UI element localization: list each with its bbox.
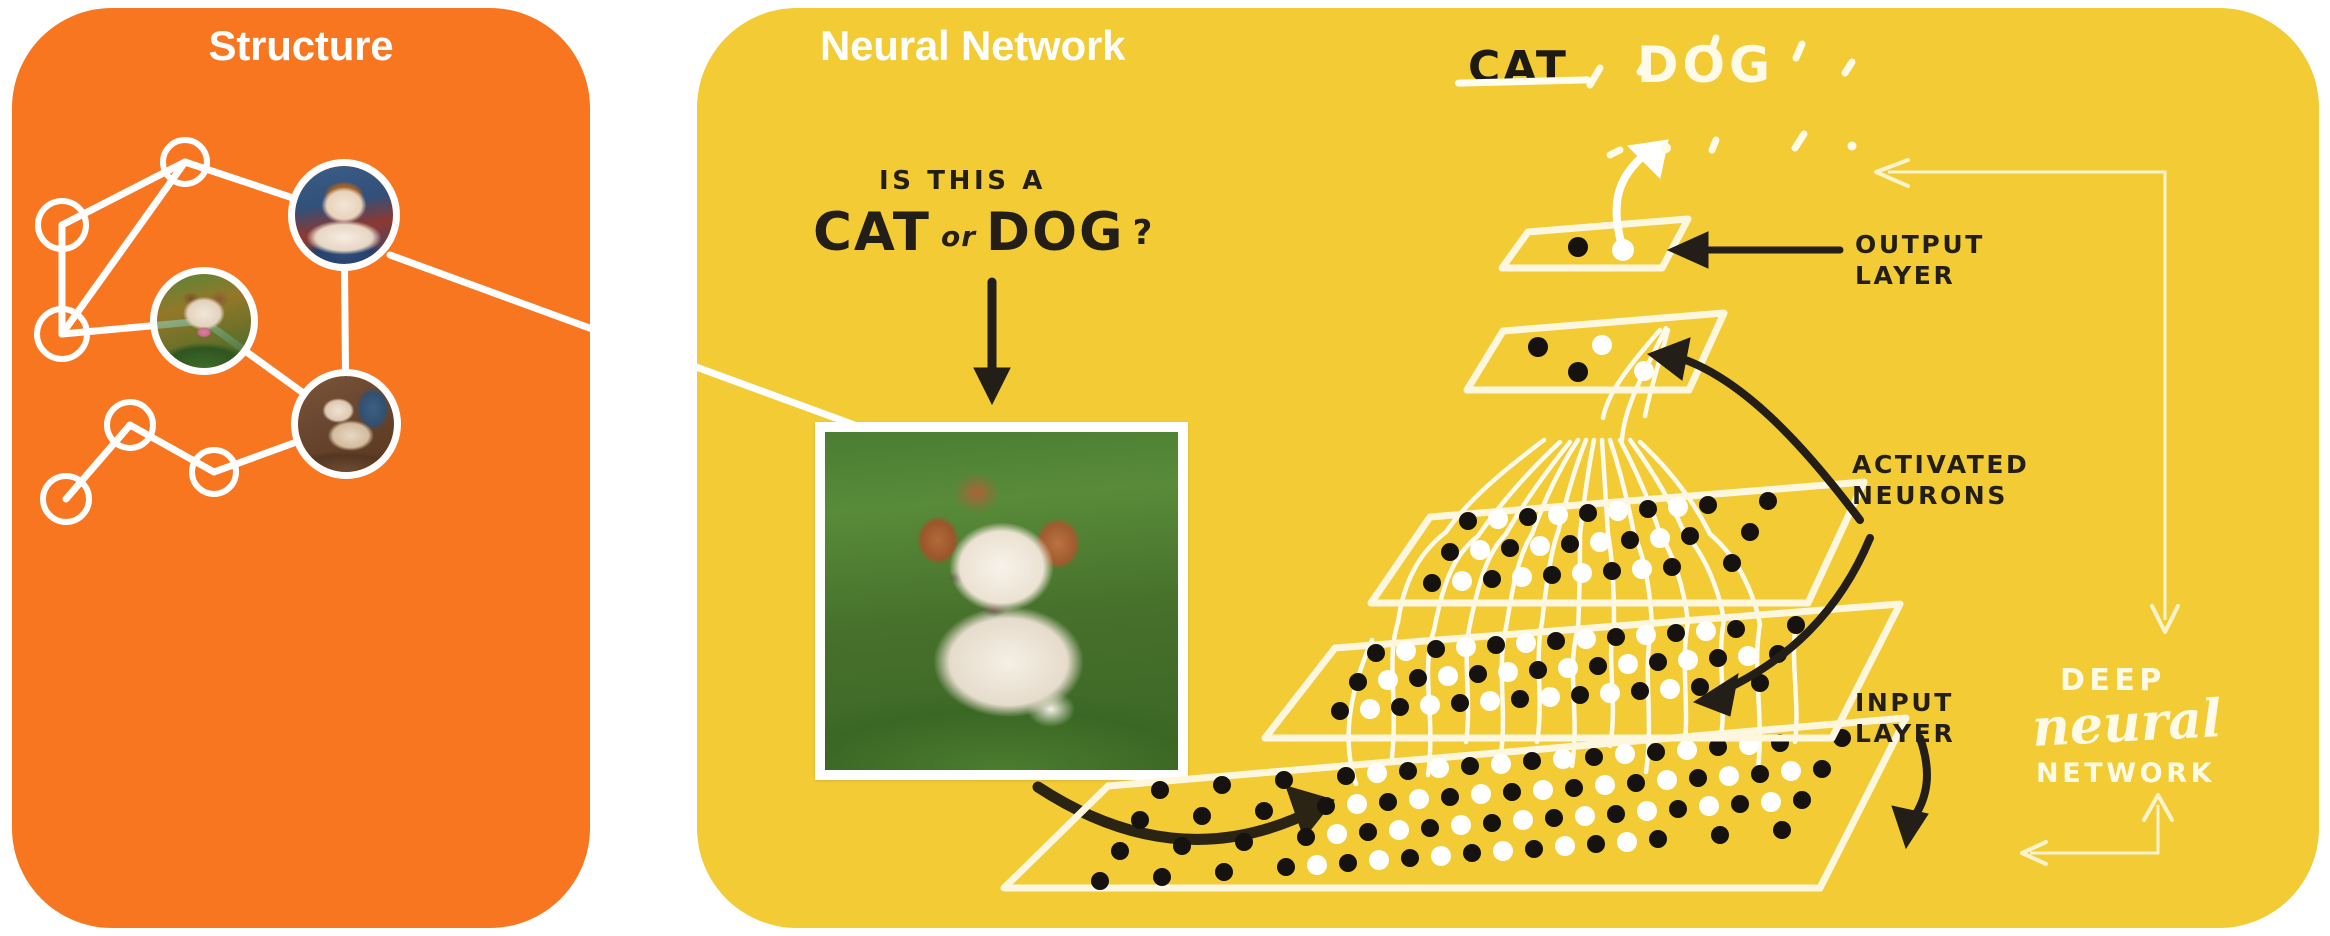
bulldog-photo-rug	[295, 166, 393, 264]
graph-node-n2[interactable]	[35, 198, 89, 252]
brand-neural: neural	[2031, 688, 2223, 759]
question-dog-word: DOG	[986, 202, 1125, 263]
question-mark: ?	[1125, 213, 1153, 253]
callout-input-layer: INPUT LAYER	[1855, 688, 1955, 749]
graph-node-n6[interactable]	[40, 473, 92, 525]
bulldog-puppy-photo	[825, 432, 1178, 770]
bulldog-photo-sitting	[298, 376, 394, 472]
graph-node-n4[interactable]	[104, 399, 156, 451]
callout-activated-neurons: ACTIVATED NEURONS	[1852, 450, 2029, 511]
verdict-dog-word: DOG	[1637, 36, 1774, 94]
graph-photo-node-bottom[interactable]	[291, 369, 401, 479]
question-conjunction: or	[931, 220, 986, 253]
callout-output-layer: OUTPUT LAYER	[1855, 230, 1985, 291]
question-cat-word: CAT	[813, 202, 931, 263]
graph-photo-node-middle[interactable]	[150, 267, 258, 375]
graph-node-n1[interactable]	[160, 137, 210, 187]
infographic-canvas: Structure Neural Network	[0, 0, 2330, 936]
question-line-1: IS THIS A	[879, 166, 1046, 196]
graph-node-n5[interactable]	[189, 447, 239, 497]
structure-panel: Structure	[12, 8, 590, 928]
brand-network: NETWORK	[2036, 758, 2215, 789]
neural-network-panel-title: Neural Network	[820, 22, 1125, 70]
structure-panel-title: Structure	[12, 22, 590, 70]
graph-photo-node-top[interactable]	[288, 159, 400, 271]
input-photo-frame[interactable]	[815, 422, 1188, 780]
question-line-2: CATorDOG?	[813, 202, 1152, 263]
graph-node-n3[interactable]	[34, 306, 90, 362]
bulldog-photo-grass	[157, 274, 251, 368]
